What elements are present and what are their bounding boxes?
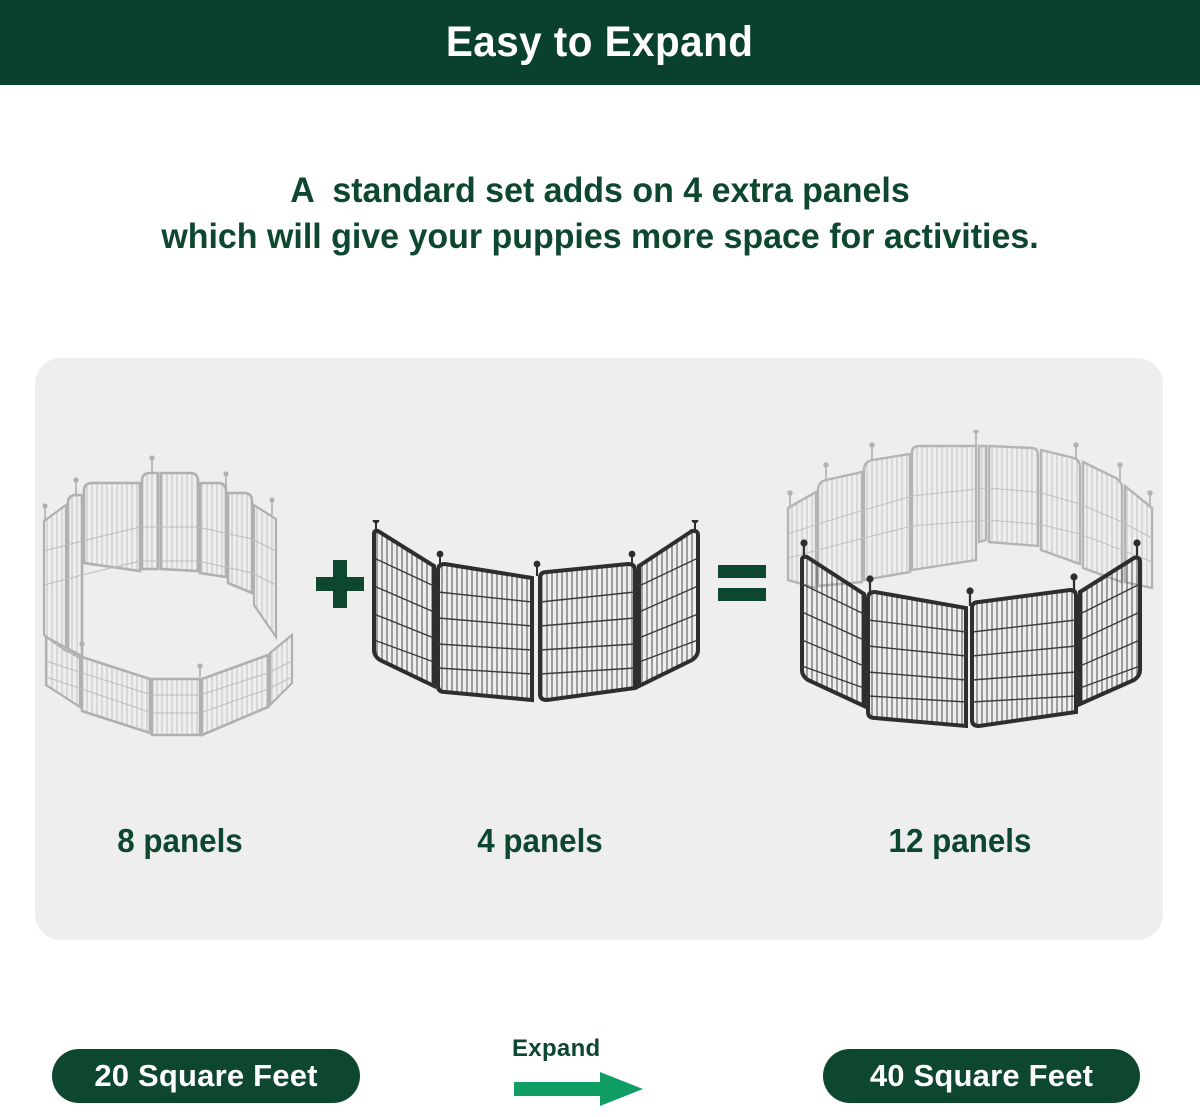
- equals-icon: [718, 565, 766, 605]
- plus-icon-vertical-bar: [333, 560, 347, 608]
- playpen-panels-light: [44, 473, 292, 735]
- equals-icon-bottom-bar: [718, 588, 766, 601]
- page-title: Easy to Expand: [446, 18, 754, 67]
- caption-12-panels: 12 panels: [818, 822, 1103, 860]
- arrow-right-icon: [514, 1072, 644, 1106]
- expand-label: Expand: [512, 1036, 662, 1062]
- subtitle-line-1: A standard set adds on 4 extra panels: [18, 168, 1182, 214]
- pen-8-panels-illustration: [40, 455, 300, 755]
- caption-4-panels: 4 panels: [398, 822, 683, 860]
- caption-8-panels: 8 panels: [47, 822, 313, 860]
- badge-40-square-feet: 40 Square Feet: [823, 1049, 1140, 1103]
- badge-20-square-feet: 20 Square Feet: [52, 1049, 360, 1103]
- subtitle-block: A standard set adds on 4 extra panels wh…: [0, 168, 1200, 260]
- header-bar: Easy to Expand: [0, 0, 1200, 85]
- expand-indicator: Expand: [512, 1036, 662, 1106]
- subtitle-line-2: which will give your puppies more space …: [18, 214, 1182, 260]
- equals-icon-top-bar: [718, 565, 766, 578]
- pen-12-panels-illustration: [780, 430, 1170, 760]
- pen-4-panels-illustration: [350, 520, 710, 720]
